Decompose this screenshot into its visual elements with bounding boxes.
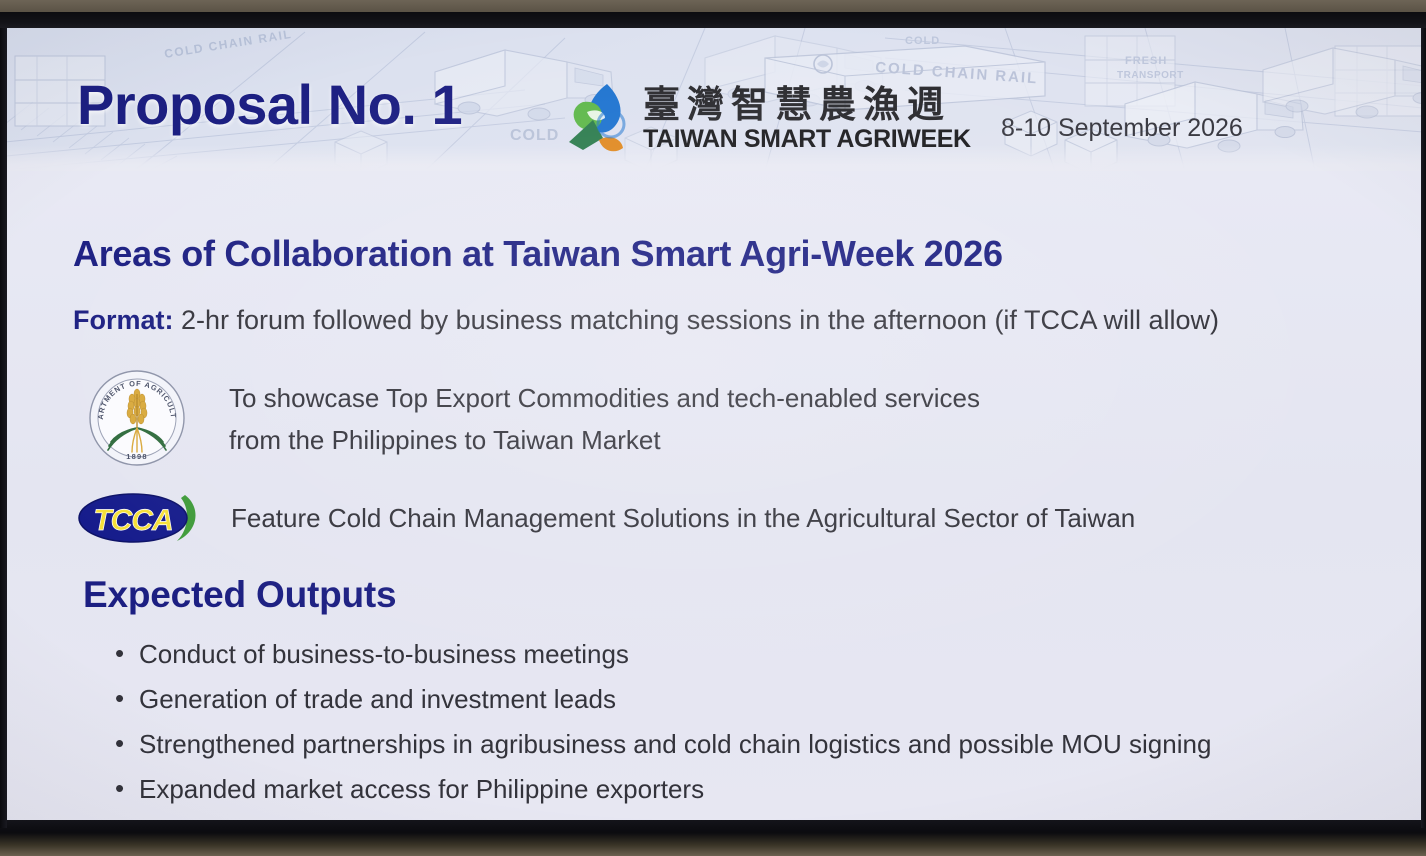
screen-bezel-right bbox=[1421, 28, 1426, 828]
expected-outputs-list: Conduct of business-to-business meetings… bbox=[113, 639, 1211, 819]
svg-text:TCCA: TCCA bbox=[93, 504, 172, 537]
brand-name-english: TAIWAN SMART AGRIWEEK bbox=[643, 127, 971, 152]
department-of-agriculture-seal-icon: DEPARTMENT OF AGRICULTURE bbox=[87, 368, 187, 468]
section-heading-expected-outputs: Expected Outputs bbox=[83, 574, 396, 616]
list-item: Generation of trade and investment leads bbox=[113, 684, 1211, 715]
brand-name-chinese: 臺灣智慧農漁週 bbox=[643, 86, 971, 123]
projection-screen-photo: COLD CHAIN RAIL COLD CHAIN RAIL COLD FRE… bbox=[0, 0, 1426, 856]
collaboration-item-da: DEPARTMENT OF AGRICULTURE bbox=[87, 368, 980, 468]
list-item: Strengthened partnerships in agribusines… bbox=[113, 729, 1211, 760]
tcca-logo-icon: TCCA bbox=[77, 489, 199, 547]
collaboration-text-da-line1: To showcase Top Export Commodities and t… bbox=[229, 377, 980, 419]
collaboration-item-tcca: TCCA Feature Cold Chain Management Solut… bbox=[77, 489, 1135, 547]
slide-title: Proposal No. 1 bbox=[77, 72, 462, 137]
format-line: Format: 2-hr forum followed by business … bbox=[73, 305, 1219, 336]
format-label: Format: bbox=[73, 305, 174, 335]
screen-bezel-bottom bbox=[0, 820, 1426, 856]
format-text: 2-hr forum followed by business matching… bbox=[181, 305, 1219, 335]
svg-text:FRESH: FRESH bbox=[1125, 55, 1167, 67]
collaboration-text-tcca: Feature Cold Chain Management Solutions … bbox=[231, 497, 1135, 539]
presentation-slide: COLD CHAIN RAIL COLD CHAIN RAIL COLD FRE… bbox=[5, 28, 1423, 820]
collaboration-text-da: To showcase Top Export Commodities and t… bbox=[229, 377, 980, 461]
event-dates: 8-10 September 2026 bbox=[1001, 114, 1243, 143]
screen-bezel-left bbox=[0, 28, 7, 828]
taiwan-smart-agriweek-logo: 臺灣智慧農漁週 TAIWAN SMART AGRIWEEK bbox=[563, 80, 971, 158]
slide-header: COLD CHAIN RAIL COLD CHAIN RAIL COLD FRE… bbox=[5, 28, 1423, 171]
list-item: Conduct of business-to-business meetings bbox=[113, 639, 1211, 670]
svg-text:TRANSPORT: TRANSPORT bbox=[1117, 70, 1184, 81]
wall-strip bbox=[0, 0, 1426, 12]
agriweek-emblem-icon bbox=[563, 80, 635, 158]
svg-text:COLD: COLD bbox=[905, 35, 940, 47]
section-heading-collaboration: Areas of Collaboration at Taiwan Smart A… bbox=[73, 233, 1003, 275]
svg-text:1898: 1898 bbox=[126, 452, 148, 461]
collaboration-text-da-line2: from the Philippines to Taiwan Market bbox=[229, 419, 980, 461]
svg-text:COLD: COLD bbox=[510, 127, 559, 144]
slide-body: Areas of Collaboration at Taiwan Smart A… bbox=[5, 171, 1423, 820]
list-item: Expanded market access for Philippine ex… bbox=[113, 774, 1211, 805]
